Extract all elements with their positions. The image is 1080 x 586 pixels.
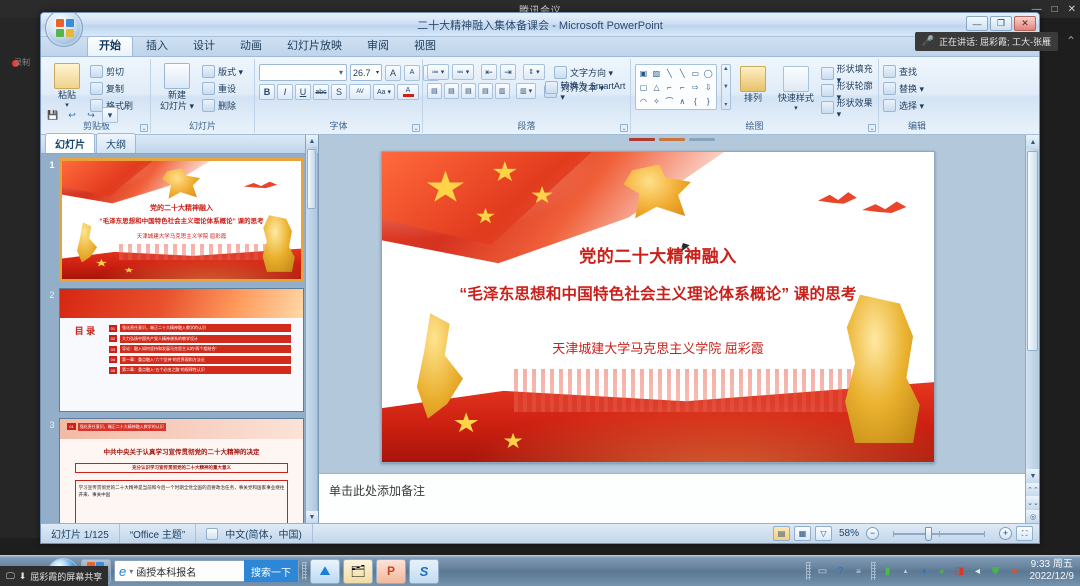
shape-cell[interactable]: ▨ <box>650 66 663 80</box>
shapes-scrollbar[interactable]: ▲ ▼ ▾ <box>721 64 731 110</box>
toc-item: 03 导论：融入如何坚持和发展马克思主义的“两个相结合” <box>109 345 291 353</box>
powerpoint-window: 二十大精神融入集体备课会 - Microsoft PowerPoint — ❐ … <box>40 12 1040 544</box>
monitor-icon: 🖵 <box>6 571 15 582</box>
shape-fill-icon <box>821 67 834 80</box>
zoom-tick <box>939 531 940 537</box>
notes-pane[interactable]: 单击此处添加备注 <box>319 473 1025 523</box>
toc-header-band <box>60 289 303 318</box>
tray-volume-icon[interactable]: ◂ <box>972 565 984 577</box>
tray-note-icon[interactable]: ≡ <box>853 565 865 577</box>
new-slide-label-2: 幻灯片 ▾ <box>160 101 194 111</box>
previous-slide-button[interactable]: ⌃⌃ <box>1026 483 1040 496</box>
ppt-restore-button[interactable]: ❐ <box>990 16 1012 31</box>
thumbnail-number: 2 <box>45 288 59 412</box>
browse-object-button[interactable]: ◎ <box>1026 510 1040 523</box>
taskbar: 🖵 ⬇ 屈彩霞的屏幕共享 e ▾ 函授本科报名 搜索一下 ⛰ 🗂 P <box>0 555 1080 586</box>
arrange-label: 排列 <box>744 93 762 103</box>
decrease-indent-button[interactable]: ⇤ <box>481 64 497 80</box>
thumbnail-number: 3 <box>45 418 59 523</box>
fit-to-window-button[interactable]: ⛶ <box>1016 526 1033 541</box>
paste-button[interactable]: 粘贴 ▾ <box>47 61 87 111</box>
italic-button[interactable]: I <box>277 84 293 100</box>
theme-name[interactable]: “Office 主题” <box>120 524 196 544</box>
status-bar: 幻灯片 1/125 “Office 主题” 中文(简体，中国) ▤ ▦ ▽ 58… <box>41 523 1039 543</box>
shape-cell[interactable]: { <box>689 94 702 108</box>
change-case-button[interactable]: Aa ▾ <box>373 84 395 100</box>
new-slide-label-1: 新建 <box>168 90 186 100</box>
orb-square-orange <box>56 19 64 27</box>
toc-item-text: 第二章：重点融入“五个必由之路”的规律性认识 <box>120 366 291 374</box>
character-spacing-button[interactable]: AV <box>349 84 371 100</box>
quick-styles-button[interactable]: 快速样式 ▾ <box>775 64 817 114</box>
shape-effects-label: 形状效果 ▾ <box>837 96 874 120</box>
editing-group-label: 编辑 <box>879 119 955 132</box>
scissors-icon <box>90 65 103 78</box>
quick-styles-icon <box>783 66 809 92</box>
thumb-title-line-2: “毛泽东思想和中国特色社会主义理论体系概论” 课的思考 <box>62 215 301 225</box>
scroll-up-icon[interactable]: ▲ <box>1026 135 1040 149</box>
line-spacing-button[interactable]: ⇕ ▾ <box>523 64 545 80</box>
tab-slides[interactable]: 幻灯片 <box>45 133 95 153</box>
font-name-input[interactable]: ▾ <box>259 64 347 81</box>
delete-slide-button[interactable]: 删除 <box>202 98 243 113</box>
slides-group-label: 幻灯片 <box>151 119 254 132</box>
shape-cell[interactable]: } <box>702 94 715 108</box>
thumb-subtitle: 天津城建大学马克思主义学院 屈彩霞 <box>62 232 301 240</box>
shape-cell[interactable]: ∧ <box>676 94 689 108</box>
slide3-subtitle: 充分认识学习宣传贯彻党的二十大精神的重大意义 <box>75 463 289 473</box>
replace-icon <box>883 82 896 95</box>
thumbnail-slide-3[interactable]: 3 01 强化责任意识，端正二十大精神融入教学的认识 中共中央关于认真学习宣传贯… <box>45 418 304 523</box>
shape-cell[interactable]: ⇨ <box>689 80 702 94</box>
arrange-button[interactable]: 排列 <box>735 64 771 103</box>
share-tip-text: 屈彩霞的屏幕共享 <box>30 570 102 583</box>
justify-button[interactable]: ▤ <box>478 83 493 99</box>
taskbar-grip[interactable] <box>302 562 307 580</box>
toc-item-number: 05 <box>109 367 117 374</box>
spellcheck-icon[interactable] <box>206 528 218 540</box>
tray-arrow-icon[interactable]: ▴ <box>900 565 912 577</box>
workspace: 幻灯片 大纲 ✕ 1 <box>41 135 1039 523</box>
toc-item-number: 04 <box>109 356 117 363</box>
language-label: 中文(简体，中国) <box>225 526 302 541</box>
drawing-dialog-launcher[interactable]: ⌄ <box>868 124 876 132</box>
tray-help-icon[interactable]: ? <box>835 565 847 577</box>
shape-cell[interactable]: ⌐ <box>663 80 676 94</box>
thumbnail-scrollbar[interactable]: ▲ ▼ <box>305 135 317 523</box>
font-color-swatch <box>403 94 414 97</box>
meeting-close-button[interactable]: ✕ <box>1068 4 1076 15</box>
scroll-down-icon[interactable]: ▼ <box>306 511 318 523</box>
toc-item-number: 01 <box>109 325 117 332</box>
shape-cell[interactable]: ▭ <box>689 66 702 80</box>
text-direction-button[interactable]: 文字方向 ▾ <box>554 65 613 80</box>
ie-logo-icon: e <box>119 564 126 579</box>
ie-address-bar[interactable]: e ▾ 函授本科报名 搜索一下 <box>114 560 299 582</box>
thumbnail-slide-1[interactable]: 1 <box>45 158 304 282</box>
align-text-label: 对齐文本 ▾ <box>561 81 604 94</box>
paragraph-dialog-launcher[interactable]: ⌄ <box>620 124 628 132</box>
shape-cell[interactable]: ◯ <box>702 66 715 80</box>
slide3-badge-number: 01 <box>67 423 75 430</box>
city-skyline-graphic <box>119 244 282 261</box>
scroll-up-icon[interactable]: ▲ <box>306 135 318 147</box>
distribute-button[interactable]: ▥ <box>495 83 510 99</box>
select-icon <box>883 99 896 112</box>
ie-search-button[interactable]: 搜索一下 <box>244 560 298 582</box>
ribbon-group-font: ▾ 26.7 ▾ A A ✎ B I U abc <box>255 59 423 133</box>
layout-label: 版式 ▾ <box>218 65 243 78</box>
quick-styles-caret[interactable]: ▾ <box>794 104 798 114</box>
shape-outline-icon <box>821 84 834 97</box>
tab-view[interactable]: 视图 <box>402 36 448 56</box>
powerpoint-window-controls[interactable]: — ❐ ✕ <box>966 16 1036 31</box>
strikethrough-button[interactable]: abc <box>313 84 329 100</box>
thumbnail-tabs: 幻灯片 大纲 ✕ <box>41 135 318 154</box>
zoom-level-label: 58% <box>836 528 862 539</box>
tab-insert[interactable]: 插入 <box>134 36 180 56</box>
zoom-slider[interactable] <box>883 527 995 541</box>
tab-home[interactable]: 开始 <box>87 36 133 56</box>
language-cell[interactable]: 中文(简体，中国) <box>196 524 313 544</box>
clock-time: 9:33 周五 <box>1030 559 1075 571</box>
slide-artwork: 目 录 01 强化责任意识，端正二十大精神融入教学的认识 02 大力弘扬中国共产… <box>60 289 303 411</box>
select-button[interactable]: 选择 ▾ <box>883 98 924 113</box>
app-powerpoint-icon[interactable]: P <box>376 559 406 584</box>
paragraph-group-label: 段落 <box>423 119 630 132</box>
font-dialog-launcher[interactable]: ⌄ <box>412 124 420 132</box>
zoom-out-button[interactable]: − <box>866 527 879 540</box>
orb-square-blue <box>66 19 74 27</box>
slide-title-line-1: 党的二十大精神融入 <box>382 242 934 267</box>
tray-shield-red-icon[interactable]: ◨ <box>954 565 966 577</box>
slide-artwork: 党的二十大精神融入 “毛泽东思想和中国特色社会主义理论体系概论” 课的思考 天津… <box>382 152 934 462</box>
tray-antivirus-icon[interactable]: ◕ <box>936 565 948 577</box>
copy-label: 复制 <box>106 82 124 95</box>
reset-button[interactable]: 重设 <box>202 81 243 96</box>
paste-label: 粘贴 <box>58 90 76 100</box>
find-button[interactable]: 查找 <box>883 64 917 79</box>
new-slide-icon <box>164 63 190 89</box>
shape-cell[interactable]: ╲ <box>676 66 689 80</box>
shape-cell[interactable]: ⌐ <box>676 80 689 94</box>
slide-scrollbar[interactable]: ▲ ▼ ⌃⌃ ⌄⌄ ◎ <box>1025 135 1039 523</box>
slide3-title: 中共中央关于认真学习宣传贯彻党的二十大精神的决定 <box>60 446 303 456</box>
text-direction-label: 文字方向 ▾ <box>570 66 613 79</box>
ribbon-tab-strip: 开始 插入 设计 动画 幻灯片放映 审阅 视图 <box>41 37 1039 57</box>
slide3-badge-text: 强化责任意识，端正二十大精神融入教学的认识 <box>78 423 166 431</box>
slideshow-view-button[interactable]: ▽ <box>815 526 832 541</box>
mic-icon: 🎤 <box>922 36 934 47</box>
find-label: 查找 <box>899 65 917 78</box>
thumbnail-canvas[interactable]: 01 强化责任意识，端正二十大精神融入教学的认识 中共中央关于认真学习宣传贯彻党… <box>59 418 304 523</box>
slide-title-line-2: “毛泽东思想和中国特色社会主义理论体系概论” 课的思考 <box>382 282 934 304</box>
quick-access-toolbar[interactable]: 💾 ↩ ↪ ▾ <box>41 106 118 124</box>
tray-battery-icon[interactable]: ▮ <box>882 565 894 577</box>
ppt-close-button[interactable]: ✕ <box>1014 16 1036 31</box>
clipboard-dialog-launcher[interactable]: ⌄ <box>140 124 148 132</box>
ribbon: 粘贴 ▾ 剪切 复制 格式刷 <box>41 57 1039 135</box>
ie-address-text: 函授本科报名 <box>136 564 196 579</box>
ppt-minimize-button[interactable]: — <box>966 16 988 31</box>
shapes-gallery[interactable]: ▣ ▨ ╲ ╲ ▭ ◯ ▢ △ ⌐ ⌐ ⇨ ⇩ ◠ ✧ ⌒ <box>635 64 717 110</box>
font-size-value: 26.7 <box>353 68 371 78</box>
align-text-button[interactable]: 对齐文本 ▾ <box>545 80 604 95</box>
slide-artwork: 01 强化责任意识，端正二十大精神融入教学的认识 中共中央关于认真学习宣传贯彻党… <box>60 419 303 523</box>
toc-label: 目 录 <box>75 326 96 337</box>
layout-icon <box>202 65 215 78</box>
reset-icon <box>202 82 215 95</box>
shape-effects-button[interactable]: 形状效果 ▾ <box>821 100 874 115</box>
clock[interactable]: 9:33 周五 2022/12/9 <box>1026 559 1075 583</box>
ie-caret-icon[interactable]: ▾ <box>129 567 133 576</box>
notes-placeholder: 单击此处添加备注 <box>329 482 425 499</box>
clock-date: 2022/12/9 <box>1030 571 1075 583</box>
orb-square-yellow <box>66 29 74 37</box>
mouse-cursor <box>681 243 689 250</box>
zoom-tick <box>984 531 985 537</box>
grow-font-button[interactable]: A <box>385 65 401 81</box>
tab-outline[interactable]: 大纲 <box>96 133 136 153</box>
drawing-group-label: 绘图 <box>631 119 878 132</box>
undo-button[interactable]: ↩ <box>64 107 80 123</box>
next-slide-button[interactable]: ⌄⌄ <box>1026 496 1040 509</box>
shape-cell[interactable]: ╲ <box>663 66 676 80</box>
font-size-input[interactable]: 26.7 ▾ <box>350 64 382 81</box>
dove-icon <box>818 189 857 208</box>
tray-sound-red-icon[interactable]: ◄ <box>1008 565 1020 577</box>
shape-cell[interactable]: ⇩ <box>702 80 715 94</box>
align-center-button[interactable]: ▤ <box>444 83 459 99</box>
toc-item-text: 导论：融入如何坚持和发展马克思主义的“两个相结合” <box>120 345 291 353</box>
replace-label: 替换 ▾ <box>899 82 924 95</box>
thumbnail-list[interactable]: 1 <box>41 154 318 523</box>
toc-item-text: 第一章：重点融入“六个坚持”的世界观和方法论 <box>120 356 291 364</box>
desktop: 腾讯会议 — □ ✕ 录制 二十大精神融入集体备课会 - Microsoft P… <box>0 0 1080 586</box>
design-chip-red[interactable] <box>629 138 655 141</box>
ribbon-group-editing: 查找 替换 ▾ 选择 ▾ 编辑 <box>879 59 955 133</box>
thumbnail-canvas[interactable]: 目 录 01 强化责任意识，端正二十大精神融入教学的认识 02 大力弘扬中国共产… <box>59 288 304 412</box>
speaking-toast: 🎤 正在讲话: 屈彩霞; 工大-张雁 <box>915 32 1058 51</box>
arrange-icon <box>740 66 766 92</box>
normal-view-button[interactable]: ▤ <box>773 526 790 541</box>
recording-label: 录制 <box>2 56 42 70</box>
reset-label: 重设 <box>218 82 236 95</box>
tab-review[interactable]: 审阅 <box>355 36 401 56</box>
shape-cell[interactable]: ⌒ <box>663 94 676 108</box>
numbering-button[interactable]: ≕ ▾ <box>452 64 474 80</box>
slide-editing-pane: 党的二十大精神融入 “毛泽东思想和中国特色社会主义理论体系概论” 课的思考 天津… <box>319 135 1039 523</box>
align-left-button[interactable]: ▤ <box>427 83 442 99</box>
toc-item: 04 第一章：重点融入“六个坚持”的世界观和方法论 <box>109 356 291 364</box>
copy-button[interactable]: 复制 <box>90 81 133 96</box>
system-tray: ▭ ? ≡ ▮ ▴ ◑ ◕ ◨ ◂ ⛊ ◄ 9:33 周五 2022/12/9 <box>806 559 1080 583</box>
shape-cell[interactable]: ◠ <box>637 94 650 108</box>
dove-icon <box>862 199 906 218</box>
tray-security-icon[interactable]: ⛊ <box>990 565 1002 577</box>
slide-sorter-view-button[interactable]: ▦ <box>794 526 811 541</box>
toc-item: 05 第二章：重点融入“五个必由之路”的规律性认识 <box>109 366 291 374</box>
slide-canvas[interactable]: 党的二十大精神融入 “毛泽东思想和中国特色社会主义理论体系概论” 课的思考 天津… <box>381 151 935 463</box>
font-name-caret[interactable]: ▾ <box>339 68 343 77</box>
shapes-scroll-down-icon[interactable]: ▼ <box>723 84 729 90</box>
bullets-button[interactable]: ≔ ▾ <box>427 64 449 80</box>
toc-item-text: 大力弘扬中国共产党人精神谱系的教学设计 <box>120 335 291 343</box>
dove-icon <box>244 180 277 191</box>
shape-cell[interactable]: ▣ <box>637 66 650 80</box>
ribbon-group-drawing: ▣ ▨ ╲ ╲ ▭ ◯ ▢ △ ⌐ ⌐ ⇨ ⇩ ◠ ✧ ⌒ <box>631 59 879 133</box>
tab-design[interactable]: 设计 <box>181 36 227 56</box>
tray-network-icon[interactable]: ◑ <box>918 565 930 577</box>
save-button[interactable]: 💾 <box>45 107 61 123</box>
paste-icon <box>54 63 80 89</box>
layout-button[interactable]: 版式 ▾ <box>202 64 243 79</box>
redo-button[interactable]: ↪ <box>83 107 99 123</box>
thumbnail-number: 1 <box>45 158 59 282</box>
toc-item-text: 强化责任意识，端正二十大精神融入教学的认识 <box>120 324 291 332</box>
thumbnail-canvas[interactable]: 党的二十大精神融入 “毛泽东思想和中国特色社会主义理论体系概论” 课的思考 天津… <box>59 158 304 282</box>
slide-design-chips <box>319 135 1025 143</box>
slide-subtitle: 天津城建大学马克思主义学院 屈彩霞 <box>382 338 934 357</box>
tray-grip-2[interactable] <box>871 562 876 580</box>
shrink-font-button[interactable]: A <box>404 65 420 81</box>
chevron-up-icon[interactable]: ⌃ <box>1066 34 1076 48</box>
cut-button[interactable]: 剪切 <box>90 64 133 79</box>
toc-item-list: 01 强化责任意识，端正二十大精神融入教学的认识 02 大力弘扬中国共产党人精神… <box>109 324 291 374</box>
slide-artwork: 党的二十大精神融入 “毛泽东思想和中国特色社会主义理论体系概论” 课的思考 天津… <box>62 161 301 279</box>
slide-counter[interactable]: 幻灯片 1/125 <box>41 524 120 544</box>
shape-cell[interactable]: ▢ <box>637 80 650 94</box>
slide-thumbnail-pane: 幻灯片 大纲 ✕ 1 <box>41 135 319 523</box>
thumbnail-slide-2[interactable]: 2 目 录 01 强化责任意识，端正二十大精神融入教学的认识 <box>45 288 304 412</box>
scrollbar-thumb[interactable] <box>1027 151 1038 351</box>
app-sogou-icon[interactable]: S <box>409 559 439 584</box>
powerpoint-titlebar: 二十大精神融入集体备课会 - Microsoft PowerPoint — ❐ … <box>41 13 1039 37</box>
toc-item: 01 强化责任意识，端正二十大精神融入教学的认识 <box>109 324 291 332</box>
shapes-scroll-up-icon[interactable]: ▲ <box>723 66 729 72</box>
find-icon <box>883 65 896 78</box>
city-skyline-graphic <box>514 369 889 412</box>
text-direction-icon <box>554 66 567 79</box>
app-folder-icon[interactable]: 🗂 <box>343 559 373 584</box>
replace-button[interactable]: 替换 ▾ <box>883 81 924 96</box>
bold-button[interactable]: B <box>259 84 275 100</box>
delete-label: 删除 <box>218 99 236 112</box>
shape-cell[interactable]: ✧ <box>650 94 663 108</box>
new-slide-button[interactable]: 新建 幻灯片 ▾ <box>155 61 199 111</box>
text-shadow-button[interactable]: S <box>331 84 347 100</box>
columns-button[interactable]: ▥ ▾ <box>516 83 537 99</box>
qat-customize-button[interactable]: ▾ <box>102 107 118 123</box>
font-color-button[interactable]: A <box>397 84 419 100</box>
quick-styles-label: 快速样式 <box>778 93 814 103</box>
increase-indent-button[interactable]: ⇥ <box>500 64 516 80</box>
design-chip-orange[interactable] <box>659 138 685 141</box>
copy-icon <box>90 82 103 95</box>
meeting-left-strip: 录制 <box>0 18 40 538</box>
design-chip-blue[interactable] <box>689 138 715 141</box>
select-label: 选择 ▾ <box>899 99 924 112</box>
cut-label: 剪切 <box>106 65 124 78</box>
font-size-caret[interactable]: ▾ <box>376 69 379 76</box>
scrollbar-thumb[interactable] <box>307 149 316 209</box>
tab-animations[interactable]: 动画 <box>228 36 274 56</box>
shape-cell[interactable]: △ <box>650 80 663 94</box>
zoom-tick <box>893 531 894 537</box>
shapes-more-icon[interactable]: ▾ <box>724 101 727 108</box>
font-group-label: 字体 <box>255 119 422 132</box>
tab-slideshow[interactable]: 幻灯片放映 <box>275 36 354 56</box>
meeting-maximize-button[interactable]: □ <box>1052 4 1058 15</box>
slide3-badge: 01 强化责任意识，端正二十大精神融入教学的认识 <box>67 423 165 431</box>
tray-printer-icon[interactable]: ▭ <box>817 565 829 577</box>
slide3-body: 学习宣传贯彻党的二十大精神是当前和今后一个时期全党全国的首要政治任务，事关党和国… <box>75 480 289 523</box>
align-right-button[interactable]: ▤ <box>461 83 476 99</box>
ribbon-group-slides: 新建 幻灯片 ▾ 版式 ▾ 重设 <box>151 59 255 133</box>
delete-icon <box>202 99 215 112</box>
download-icon: ⬇ <box>19 571 27 582</box>
toc-item-number: 03 <box>109 346 117 353</box>
shape-effects-icon <box>821 101 834 114</box>
speaking-text: 正在讲话: 屈彩霞; 工大-张雁 <box>939 35 1051 48</box>
app-blue-mountain-icon[interactable]: ⛰ <box>310 559 340 584</box>
align-text-icon <box>545 81 558 94</box>
orb-square-green <box>56 29 64 37</box>
zoom-in-button[interactable]: + <box>999 527 1012 540</box>
zoom-knob[interactable] <box>925 527 932 541</box>
status-bar-right: ▤ ▦ ▽ 58% − + ⛶ <box>773 526 1039 541</box>
screen-share-tooltip: 🖵 ⬇ 屈彩霞的屏幕共享 <box>0 566 108 586</box>
ribbon-group-paragraph: ≔ ▾ ≕ ▾ ⇤ ⇥ ⇕ ▾ 文字方向 ▾ ▤ ▤ ▤ <box>423 59 631 133</box>
underline-button[interactable]: U <box>295 84 311 100</box>
thumb-title-line-1: 党的二十大精神融入 <box>62 203 301 213</box>
scroll-down-icon[interactable]: ▼ <box>1026 469 1040 483</box>
tray-grip[interactable] <box>806 562 811 580</box>
toc-item: 02 大力弘扬中国共产党人精神谱系的教学设计 <box>109 335 291 343</box>
toc-item-number: 02 <box>109 335 117 342</box>
powerpoint-title: 二十大精神融入集体备课会 - Microsoft PowerPoint <box>41 17 1039 33</box>
